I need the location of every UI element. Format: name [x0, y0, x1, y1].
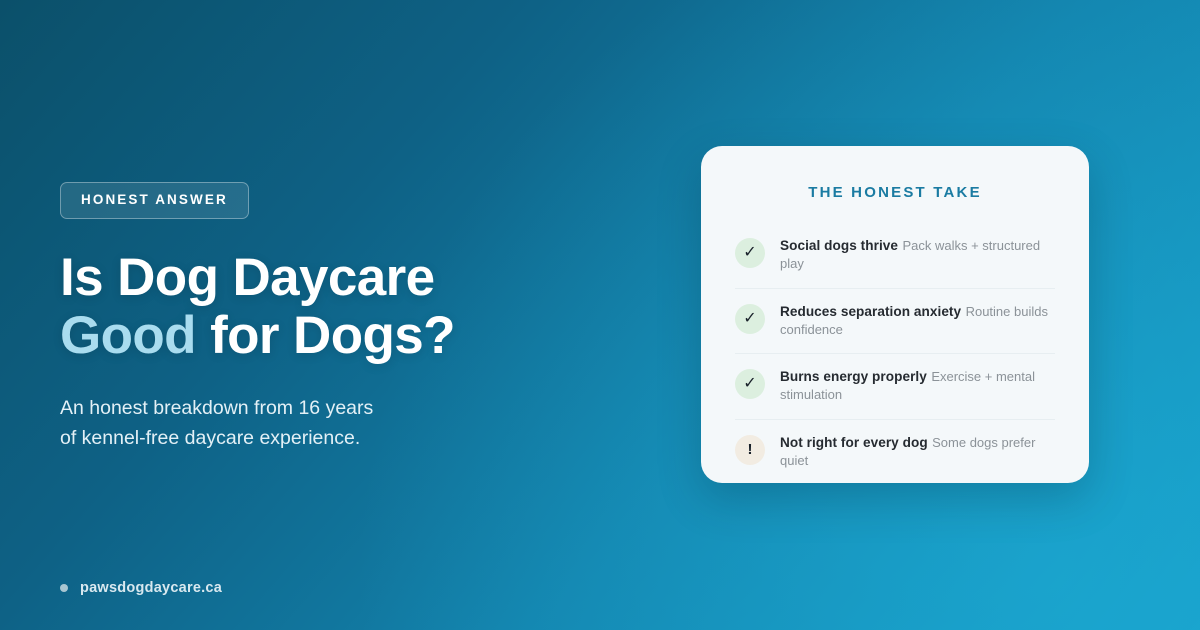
poster-canvas: HONEST ANSWER Is Dog Daycare Good for Do…	[0, 0, 1200, 630]
list-item-text: Not right for every dog Some dogs prefer…	[780, 434, 1055, 471]
list-item: ! Not right for every dog Some dogs pref…	[735, 420, 1055, 485]
honest-answer-badge: HONEST ANSWER	[60, 182, 249, 219]
list-item-text: Burns energy properly Exercise + mental …	[780, 368, 1055, 405]
list-item-text: Reduces separation anxiety Routine build…	[780, 303, 1055, 340]
check-icon: ✓	[735, 238, 765, 268]
hero-subtitle: An honest breakdown from 16 years of ken…	[60, 393, 580, 453]
list-item-title: Burns energy properly	[780, 369, 927, 384]
subtitle-line-2: of kennel-free daycare experience.	[60, 423, 580, 453]
headline-line-2-rest: for Dogs?	[196, 306, 455, 365]
list-item: ✓ Reduces separation anxiety Routine bui…	[735, 289, 1055, 355]
subtitle-line-1: An honest breakdown from 16 years	[60, 393, 580, 423]
bullet-dot-icon	[60, 584, 68, 592]
website-url: pawsdogdaycare.ca	[80, 580, 222, 596]
list-item-title: Social dogs thrive	[780, 238, 898, 253]
honest-take-card: THE HONEST TAKE ✓ Social dogs thrive Pac…	[701, 146, 1089, 483]
list-item-text: Social dogs thrive Pack walks + structur…	[780, 237, 1055, 274]
list-item-title: Not right for every dog	[780, 435, 928, 450]
benefits-list: ✓ Social dogs thrive Pack walks + struct…	[735, 223, 1055, 484]
card-title: THE HONEST TAKE	[735, 184, 1055, 201]
check-icon: ✓	[735, 369, 765, 399]
headline-line-2: Good for Dogs?	[60, 307, 580, 365]
warning-icon: !	[735, 435, 765, 465]
footer-brand: pawsdogdaycare.ca	[60, 580, 222, 596]
headline-line-1: Is Dog Daycare	[60, 249, 580, 307]
list-item-title: Reduces separation anxiety	[780, 304, 961, 319]
headline-accent-word: Good	[60, 306, 196, 365]
hero-content: HONEST ANSWER Is Dog Daycare Good for Do…	[60, 182, 580, 454]
page-title: Is Dog Daycare Good for Dogs?	[60, 249, 580, 366]
list-item: ✓ Burns energy properly Exercise + menta…	[735, 354, 1055, 420]
check-icon: ✓	[735, 304, 765, 334]
list-item: ✓ Social dogs thrive Pack walks + struct…	[735, 223, 1055, 289]
